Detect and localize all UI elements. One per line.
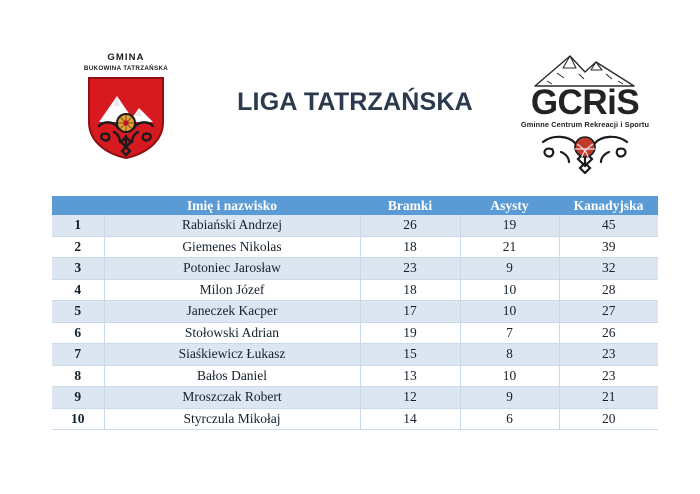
- gcris-subtitle: Gminne Centrum Rekreacji i Sportu: [505, 120, 665, 129]
- cell-assists: 10: [460, 365, 559, 387]
- table-header-row: Imię i nazwisko Bramki Asysty Kanadyjska: [52, 196, 658, 215]
- standings-table-body: 1 Rabiański Andrzej 26 19 45 2 Giemenes …: [52, 215, 658, 430]
- cell-name: Rabiański Andrzej: [104, 215, 360, 236]
- cell-rank: 6: [52, 322, 104, 344]
- cell-goals: 18: [360, 236, 460, 258]
- table-row: 6 Stołowski Adrian 19 7 26: [52, 322, 658, 344]
- table-row: 2 Giemenes Nikolas 18 21 39: [52, 236, 658, 258]
- cell-name: Milon Józef: [104, 279, 360, 301]
- gmina-crest-subtitle: BUKOWINA TATRZAŃSKA: [66, 64, 186, 73]
- column-header-goals: Bramki: [360, 196, 460, 215]
- cell-canadian: 20: [559, 408, 658, 430]
- cell-assists: 10: [460, 301, 559, 323]
- cell-rank: 7: [52, 344, 104, 366]
- cell-rank: 8: [52, 365, 104, 387]
- cell-rank: 3: [52, 258, 104, 280]
- page-title: LIGA TATRZAŃSKA: [215, 88, 495, 117]
- cell-rank: 9: [52, 387, 104, 409]
- table-row: 4 Milon Józef 18 10 28: [52, 279, 658, 301]
- cell-name: Mroszczak Robert: [104, 387, 360, 409]
- cell-goals: 23: [360, 258, 460, 280]
- cell-name: Styrczula Mikołaj: [104, 408, 360, 430]
- cell-rank: 10: [52, 408, 104, 430]
- cell-assists: 9: [460, 387, 559, 409]
- cell-assists: 10: [460, 279, 559, 301]
- cell-canadian: 21: [559, 387, 658, 409]
- document-header: GMINA BUKOWINA TATRZAŃSKA: [0, 0, 700, 185]
- standings-table: Imię i nazwisko Bramki Asysty Kanadyjska…: [52, 196, 658, 430]
- cell-name: Janeczek Kacper: [104, 301, 360, 323]
- cell-name: Giemenes Nikolas: [104, 236, 360, 258]
- cell-name: Potoniec Jarosław: [104, 258, 360, 280]
- cell-name: Bałos Daniel: [104, 365, 360, 387]
- cell-rank: 1: [52, 215, 104, 236]
- table-row: 1 Rabiański Andrzej 26 19 45: [52, 215, 658, 236]
- cell-rank: 2: [52, 236, 104, 258]
- gcris-logo: GCRiS Gminne Centrum Rekreacji i Sportu: [505, 48, 665, 170]
- cell-assists: 19: [460, 215, 559, 236]
- cell-canadian: 45: [559, 215, 658, 236]
- gmina-crest-logo: GMINA BUKOWINA TATRZAŃSKA: [66, 52, 186, 167]
- cell-canadian: 23: [559, 344, 658, 366]
- cell-goals: 15: [360, 344, 460, 366]
- cell-canadian: 26: [559, 322, 658, 344]
- cell-name: Siaśkiewicz Łukasz: [104, 344, 360, 366]
- cell-canadian: 28: [559, 279, 658, 301]
- standings-table-container: Imię i nazwisko Bramki Asysty Kanadyjska…: [52, 196, 658, 430]
- table-row: 5 Janeczek Kacper 17 10 27: [52, 301, 658, 323]
- shield-icon: [87, 76, 165, 160]
- cell-rank: 5: [52, 301, 104, 323]
- column-header-rank: [52, 196, 104, 215]
- column-header-name: Imię i nazwisko: [104, 196, 360, 215]
- cell-goals: 12: [360, 387, 460, 409]
- table-row: 10 Styrczula Mikołaj 14 6 20: [52, 408, 658, 430]
- highlander-ornament-icon: [537, 130, 633, 174]
- cell-canadian: 27: [559, 301, 658, 323]
- cell-goals: 19: [360, 322, 460, 344]
- cell-assists: 8: [460, 344, 559, 366]
- cell-canadian: 23: [559, 365, 658, 387]
- gcris-wordmark: GCRiS: [505, 86, 665, 120]
- table-row: 7 Siaśkiewicz Łukasz 15 8 23: [52, 344, 658, 366]
- cell-canadian: 32: [559, 258, 658, 280]
- column-header-canadian: Kanadyjska: [559, 196, 658, 215]
- cell-rank: 4: [52, 279, 104, 301]
- cell-goals: 18: [360, 279, 460, 301]
- cell-name: Stołowski Adrian: [104, 322, 360, 344]
- gmina-crest-title: GMINA: [66, 52, 186, 63]
- cell-goals: 17: [360, 301, 460, 323]
- column-header-assists: Asysty: [460, 196, 559, 215]
- cell-assists: 21: [460, 236, 559, 258]
- cell-goals: 14: [360, 408, 460, 430]
- table-row: 3 Potoniec Jarosław 23 9 32: [52, 258, 658, 280]
- document-page: GMINA BUKOWINA TATRZAŃSKA: [0, 0, 700, 494]
- cell-assists: 9: [460, 258, 559, 280]
- cell-goals: 26: [360, 215, 460, 236]
- table-row: 8 Bałos Daniel 13 10 23: [52, 365, 658, 387]
- cell-assists: 7: [460, 322, 559, 344]
- cell-goals: 13: [360, 365, 460, 387]
- cell-assists: 6: [460, 408, 559, 430]
- cell-canadian: 39: [559, 236, 658, 258]
- table-row: 9 Mroszczak Robert 12 9 21: [52, 387, 658, 409]
